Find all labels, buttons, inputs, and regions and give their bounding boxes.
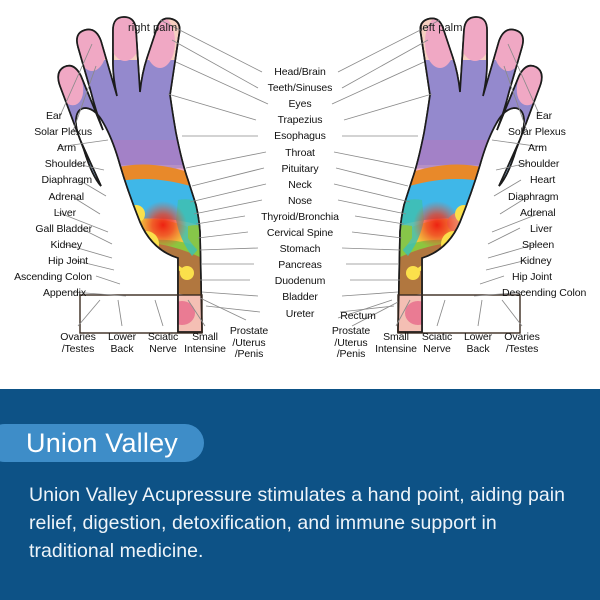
center-label-0: Head/Brain: [274, 67, 326, 79]
left-label-7-line-0: Gall Bladder: [35, 224, 92, 236]
right-label-7-line-0: Liver: [530, 224, 552, 236]
title-badge: Union Valley: [0, 424, 204, 462]
bottom-right-label-0-line-0: Rectum: [340, 311, 376, 323]
right-label-2-line-0: Arm: [528, 143, 547, 155]
left-label-0-line-0: Ear: [46, 111, 62, 123]
left-label-9-line-0: Hip Joint: [48, 256, 88, 268]
bottom-left-label-3: SmallIntensine: [184, 332, 226, 355]
right-label-7: Liver: [530, 224, 552, 236]
left-palm-title: left palm: [420, 22, 462, 34]
center-label-14-line-0: Bladder: [282, 292, 318, 304]
center-label-4: Esophagus: [274, 131, 326, 143]
right-label-5-line-0: Diaphragm: [508, 192, 558, 204]
center-label-11-line-0: Stomach: [280, 244, 321, 256]
bottom-left-label-3-line-1: Intensine: [184, 344, 226, 356]
hand-reflexology-diagram: right palm left palm EarSolar PlexusArmS…: [0, 0, 600, 389]
bottom-right-label-1-line-0: Prostate: [332, 326, 370, 338]
center-label-8: Nose: [288, 196, 312, 208]
center-label-14: Bladder: [282, 292, 318, 304]
bottom-left-label-1-line-0: Lower: [108, 332, 136, 344]
center-label-0-line-0: Head/Brain: [274, 67, 326, 79]
right-label-0-line-0: Ear: [536, 111, 552, 123]
right-label-4: Heart: [530, 175, 555, 187]
bottom-left-label-3-line-0: Small: [184, 332, 226, 344]
right-label-10: Hip Joint: [512, 272, 552, 284]
center-label-9: Thyroid/Bronchia: [261, 212, 339, 224]
bottom-left-label-0-line-0: Ovaries: [60, 332, 95, 344]
bottom-right-label-4: LowerBack: [464, 332, 492, 355]
left-label-2: Arm: [57, 143, 76, 155]
center-label-15-line-0: Ureter: [286, 309, 315, 321]
right-label-5: Diaphragm: [508, 192, 558, 204]
right-label-4-line-0: Heart: [530, 175, 555, 187]
bottom-right-label-2-line-0: Small: [375, 332, 417, 344]
left-label-4-line-0: Diaphragm: [42, 175, 92, 187]
left-label-9: Hip Joint: [48, 256, 88, 268]
right-label-0: Ear: [536, 111, 552, 123]
center-label-5-line-0: Throat: [285, 148, 315, 160]
bottom-right-label-2: SmallIntensine: [375, 332, 417, 355]
bottom-right-label-1-line-2: /Penis: [332, 349, 370, 361]
center-label-7-line-0: Neck: [288, 180, 312, 192]
bottom-left-label-4-line-0: Prostate: [230, 326, 268, 338]
bottom-right-label-5: Ovaries/Testes: [504, 332, 539, 355]
reflexology-infographic: right palm left palm EarSolar PlexusArmS…: [0, 0, 600, 600]
left-label-8: Kidney: [50, 240, 82, 252]
left-label-10-line-0: Ascending Colon: [14, 272, 92, 284]
left-label-1: Solar Plexus: [34, 127, 92, 139]
left-label-2-line-0: Arm: [57, 143, 76, 155]
right-label-8-line-0: Spleen: [522, 240, 554, 252]
center-label-12-line-0: Pancreas: [278, 260, 322, 272]
center-label-7: Neck: [288, 180, 312, 192]
left-label-0: Ear: [46, 111, 62, 123]
left-label-5-line-0: Adrenal: [49, 192, 85, 204]
bottom-right-label-5-line-1: /Testes: [504, 344, 539, 356]
right-label-6-line-0: Adrenal: [520, 208, 556, 220]
center-label-11: Stomach: [280, 244, 321, 256]
bottom-right-label-1: Prostate/Uterus/Penis: [332, 326, 370, 361]
right-label-9: Kidney: [520, 256, 552, 268]
center-label-3: Trapezius: [278, 115, 323, 127]
bottom-left-label-2-line-0: Sciatic: [148, 332, 178, 344]
right-label-1: Solar Plexus: [508, 127, 566, 139]
right-label-1-line-0: Solar Plexus: [508, 127, 566, 139]
center-label-1-line-0: Teeth/Sinuses: [268, 83, 333, 95]
left-label-6: Liver: [54, 208, 76, 220]
bottom-left-label-1: LowerBack: [108, 332, 136, 355]
left-label-3: Shoulder: [45, 159, 86, 171]
center-label-5: Throat: [285, 148, 315, 160]
bottom-left-label-4: Prostate/Uterus/Penis: [230, 326, 268, 361]
center-label-13: Duodenum: [275, 276, 326, 288]
right-label-10-line-0: Hip Joint: [512, 272, 552, 284]
bottom-right-label-2-line-1: Intensine: [375, 344, 417, 356]
bottom-left-label-4-line-2: /Penis: [230, 349, 268, 361]
bottom-left-label-1-line-1: Back: [108, 344, 136, 356]
right-palm-title: right palm: [128, 22, 177, 34]
center-label-6-line-0: Pituitary: [281, 164, 318, 176]
center-label-3-line-0: Trapezius: [278, 115, 323, 127]
bottom-left-label-2-line-1: Nerve: [148, 344, 178, 356]
center-label-12: Pancreas: [278, 260, 322, 272]
bottom-left-label-0: Ovaries/Testes: [60, 332, 95, 355]
bottom-right-label-3-line-1: Nerve: [422, 344, 452, 356]
right-label-3-line-0: Shoulder: [518, 159, 559, 171]
right-label-8: Spleen: [522, 240, 554, 252]
bottom-left-label-0-line-1: /Testes: [60, 344, 95, 356]
bottom-right-label-3-line-0: Sciatic: [422, 332, 452, 344]
center-label-10-line-0: Cervical Spine: [267, 228, 333, 240]
left-label-3-line-0: Shoulder: [45, 159, 86, 171]
bottom-right-label-0: Rectum: [340, 311, 376, 323]
right-label-11-line-0: Descending Colon: [502, 288, 586, 300]
bottom-right-label-3: SciaticNerve: [422, 332, 452, 355]
left-label-11-line-0: Appendix: [43, 288, 86, 300]
right-label-2: Arm: [528, 143, 547, 155]
center-label-4-line-0: Esophagus: [274, 131, 326, 143]
center-label-2-line-0: Eyes: [289, 99, 312, 111]
left-label-1-line-0: Solar Plexus: [34, 127, 92, 139]
center-label-8-line-0: Nose: [288, 196, 312, 208]
center-label-2: Eyes: [289, 99, 312, 111]
bottom-left-label-2: SciaticNerve: [148, 332, 178, 355]
left-label-5: Adrenal: [49, 192, 85, 204]
bottom-right-label-4-line-1: Back: [464, 344, 492, 356]
left-label-8-line-0: Kidney: [50, 240, 82, 252]
right-label-3: Shoulder: [518, 159, 559, 171]
right-label-6: Adrenal: [520, 208, 556, 220]
center-label-15: Ureter: [286, 309, 315, 321]
left-label-10: Ascending Colon: [14, 272, 92, 284]
title-badge-label: Union Valley: [26, 428, 178, 459]
left-label-4: Diaphragm: [42, 175, 92, 187]
description-text: Union Valley Acupressure stimulates a ha…: [29, 481, 581, 565]
left-label-7: Gall Bladder: [35, 224, 92, 236]
right-label-9-line-0: Kidney: [520, 256, 552, 268]
left-label-11: Appendix: [43, 288, 86, 300]
center-label-6: Pituitary: [281, 164, 318, 176]
bottom-right-label-5-line-0: Ovaries: [504, 332, 539, 344]
left-label-6-line-0: Liver: [54, 208, 76, 220]
info-footer: Union Valley Union Valley Acupressure st…: [0, 389, 600, 600]
right-label-11: Descending Colon: [502, 288, 586, 300]
center-label-13-line-0: Duodenum: [275, 276, 326, 288]
center-label-1: Teeth/Sinuses: [268, 83, 333, 95]
center-label-9-line-0: Thyroid/Bronchia: [261, 212, 339, 224]
center-label-10: Cervical Spine: [267, 228, 333, 240]
bottom-right-label-4-line-0: Lower: [464, 332, 492, 344]
